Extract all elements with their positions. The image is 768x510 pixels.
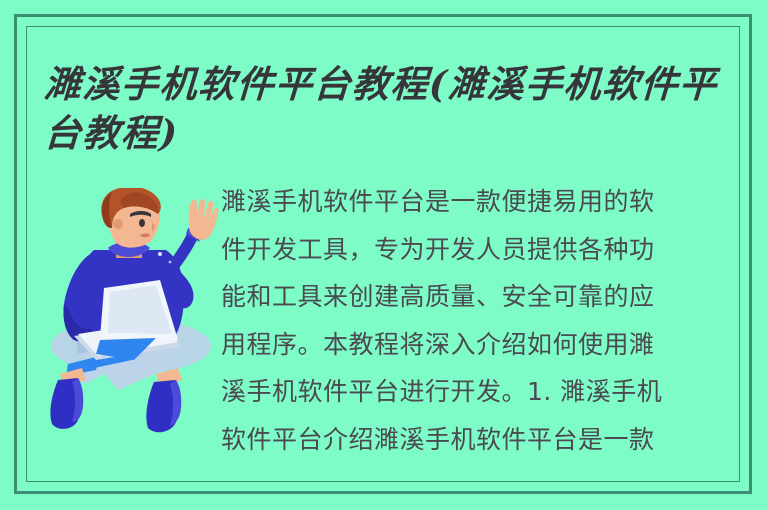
body-line-5: 溪手机软件平台进行开发。1. 濉溪手机: [221, 368, 737, 416]
ear: [113, 219, 123, 229]
body-line-2: 件开发工具，专为开发人员提供各种功: [221, 226, 737, 274]
illustration-svg: [38, 188, 224, 434]
sparkle-dot-1: [158, 252, 162, 256]
sparkle-dot-2: [169, 261, 172, 264]
title-line-1: 濉溪手机软件平台教程(濉溪手机软件平: [43, 60, 758, 109]
body-line-1: 濉溪手机软件平台是一款便捷易用的软: [221, 178, 737, 226]
eye: [139, 219, 145, 227]
body-line-4: 用程序。本教程将深入介绍如何使用濉: [221, 321, 737, 369]
illustration-man-with-laptop: [38, 188, 224, 434]
poster-canvas: 濉溪手机软件平台教程(濉溪手机软件平 台教程) 濉溪手机软件平台是一款便捷易用的…: [0, 0, 768, 510]
page-title: 濉溪手机软件平台教程(濉溪手机软件平 台教程): [44, 60, 756, 158]
title-line-2: 台教程): [43, 109, 758, 158]
body-line-3: 能和工具来创建高质量、安全可靠的应: [221, 273, 737, 321]
body-paragraph: 濉溪手机软件平台是一款便捷易用的软 件开发工具，专为开发人员提供各种功 能和工具…: [221, 178, 737, 463]
body-line-6: 软件平台介绍濉溪手机软件平台是一款: [221, 416, 737, 464]
waving-hand: [189, 199, 219, 240]
